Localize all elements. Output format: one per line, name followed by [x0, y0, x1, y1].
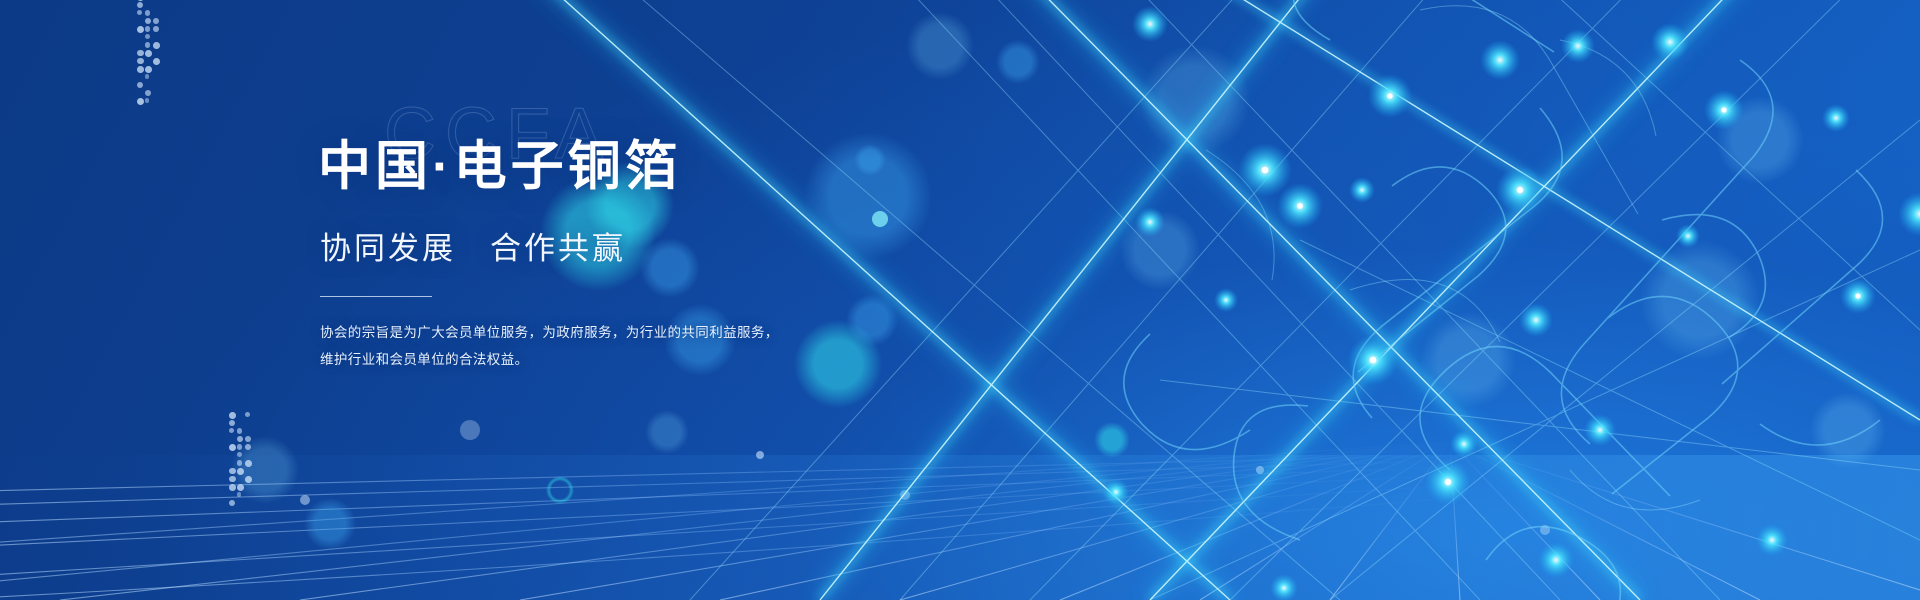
hero-banner: CCFA 中国·电子铜箔 协同发展 合作共赢 协会的宗旨是为广大会员单位服务，为…: [0, 0, 1920, 600]
banner-description: 协会的宗旨是为广大会员单位服务，为政府服务，为行业的共同利益服务， 维护行业和会…: [320, 319, 958, 373]
network-lines: [0, 0, 1920, 600]
bokeh-circles: [0, 0, 1920, 600]
dot-column-bottom-left: [228, 412, 262, 508]
title-divider: [320, 296, 432, 297]
dot-column-top-left: [136, 0, 176, 106]
description-line-2: 维护行业和会员单位的合法权益。: [320, 346, 958, 373]
banner-copy: CCFA 中国·电子铜箔 协同发展 合作共赢 协会的宗旨是为广大会员单位服务，为…: [318, 96, 958, 373]
perspective-grid-floor: [0, 0, 1920, 600]
page-title: 中国·电子铜箔: [318, 96, 958, 199]
banner-subtitle: 协同发展 合作共赢: [320, 223, 958, 268]
description-line-1: 协会的宗旨是为广大会员单位服务，为政府服务，为行业的共同利益服务，: [320, 319, 958, 346]
